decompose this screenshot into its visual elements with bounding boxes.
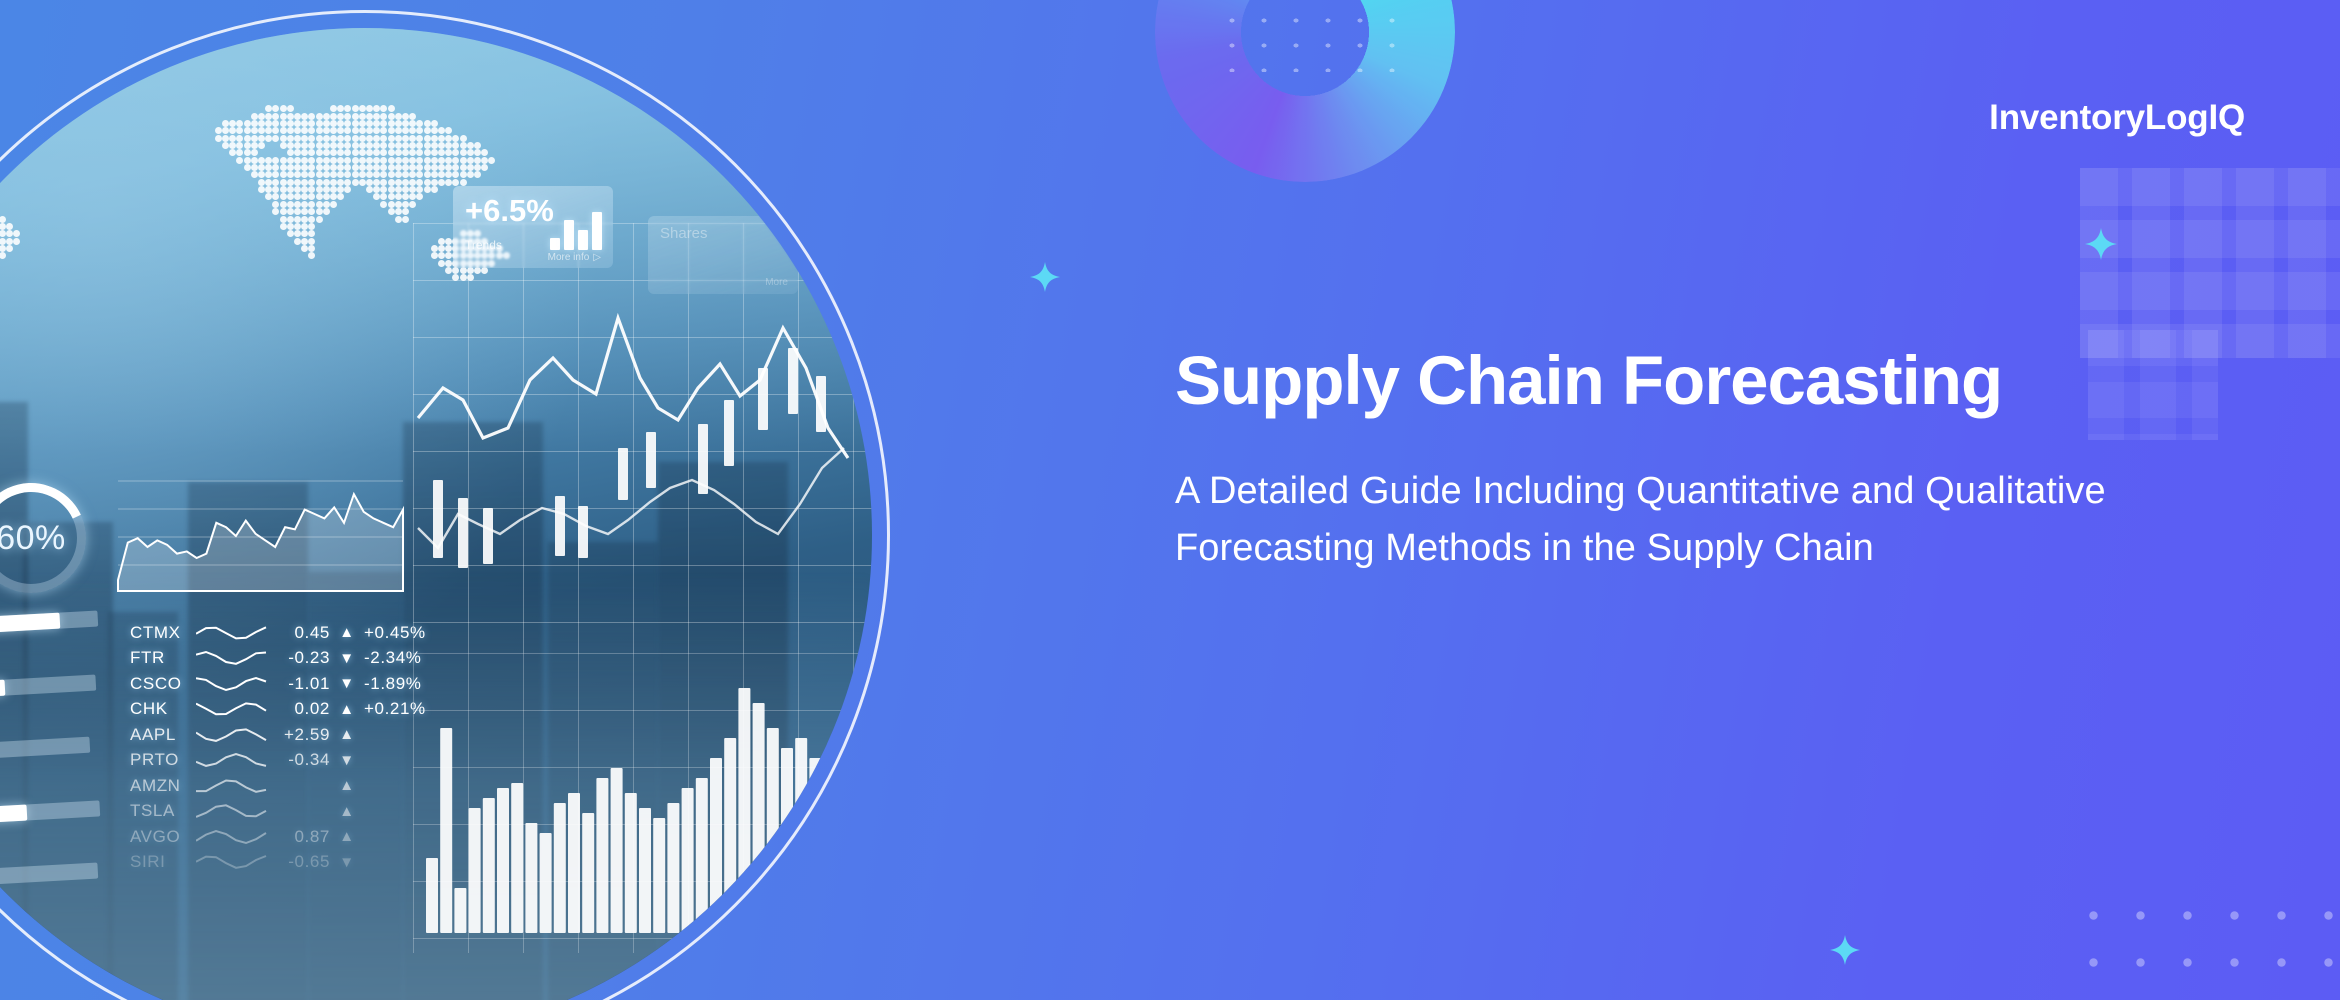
ticker-symbol: AMZN [130,776,196,796]
sparkle-icon [1830,935,1860,965]
more-label: More [765,277,788,288]
progress-bar [0,737,90,768]
photo-inner: 85% 60% CTMX0.45▲+0.45%FTR-0.23▼-2.34%CS… [0,28,872,1000]
shares-more-link[interactable]: More [765,277,788,288]
ticker-symbol: TSLA [130,801,196,821]
shares-kpi-card: Shares More [648,216,798,294]
ticker-row: FTR-0.23▼-2.34% [130,646,460,672]
ticker-list: CTMX0.45▲+0.45%FTR-0.23▼-2.34%CSCO-1.01▼… [130,620,460,875]
progress-bar [0,800,100,831]
ticker-change: -2.34% [364,648,450,668]
ticker-direction-up-icon: ▲ [330,803,364,820]
ticker-sparkline [196,802,268,820]
progress-bar [0,610,98,641]
ticker-direction-down-icon: ▼ [330,752,364,769]
ticker-symbol: CHK [130,699,196,719]
ticker-symbol: FTR [130,648,196,668]
ticker-value: -0.34 [268,750,330,770]
ticker-sparkline [196,624,268,642]
ticker-symbol: CSCO [130,674,196,694]
hero-photo: 85% 60% CTMX0.45▲+0.45%FTR-0.23▼-2.34%CS… [0,10,890,1000]
sparkle-icon [2085,228,2117,260]
ticker-direction-up-icon: ▲ [330,726,364,743]
ticker-sparkline [196,751,268,769]
ticker-symbol: CTMX [130,623,196,643]
ticker-direction-up-icon: ▲ [330,624,364,641]
ticker-sparkline [196,828,268,846]
ticker-value: 0.45 [268,623,330,643]
ticker-row: PRTO-0.34▼ [130,748,460,774]
play-circle-icon: ▷ [593,252,601,263]
ticker-symbol: AAPL [130,725,196,745]
ticker-sparkline [196,777,268,795]
ticker-value: +2.59 [268,725,330,745]
brand-logo[interactable]: InventoryLogIQ [1989,98,2245,138]
ticker-sparkline [196,700,268,718]
dot-grid-decoration [2060,880,2340,1000]
ticker-direction-down-icon: ▼ [330,675,364,692]
trends-more-link[interactable]: More info ▷ [548,252,601,263]
ticker-symbol: PRTO [130,750,196,770]
ticker-row: CHK0.02▲+0.21% [130,697,460,723]
ticker-direction-up-icon: ▲ [330,777,364,794]
ticker-direction-up-icon: ▲ [330,701,364,718]
ring-dot-grid-decoration [1212,0,1402,72]
ticker-row: CTMX0.45▲+0.45% [130,620,460,646]
ticker-change: +0.21% [364,699,450,719]
shares-label: Shares [660,225,786,242]
ticker-value: -0.65 [268,852,330,872]
hero-banner: 85% 60% CTMX0.45▲+0.45%FTR-0.23▼-2.34%CS… [0,0,2340,1000]
ticker-row: CSCO-1.01▼-1.89% [130,671,460,697]
ticker-symbol: SIRI [130,852,196,872]
ticker-value: 0.87 [268,827,330,847]
ticker-direction-up-icon: ▲ [330,828,364,845]
progress-bar-group [0,618,108,928]
index-area-chart [108,473,408,598]
ticker-change: +0.45% [364,623,450,643]
progress-bar [0,675,96,706]
ticker-symbol: AVGO [130,827,196,847]
ticker-row: TSLA▲ [130,799,460,825]
ticker-sparkline [196,649,268,667]
ticker-sparkline [196,726,268,744]
ticker-row: SIRI-0.65▼ [130,850,460,876]
ticker-sparkline [196,853,268,871]
trends-kpi-card: +6.5% Trends More info ▷ [453,186,613,268]
more-info-label: More info [548,252,590,263]
ticker-row: AMZN▲ [130,773,460,799]
ticker-direction-down-icon: ▼ [330,854,364,871]
ticker-row: AAPL+2.59▲ [130,722,460,748]
sparkle-icon [1030,262,1060,292]
ticker-change: -1.89% [364,674,450,694]
ticker-sparkline [196,675,268,693]
page-subtitle: A Detailed Guide Including Quantitative … [1175,463,2285,576]
ticker-direction-down-icon: ▼ [330,650,364,667]
ticker-row: AVGO0.87▲ [130,824,460,850]
page-title: Supply Chain Forecasting [1175,345,2295,417]
ticker-value: 0.02 [268,699,330,719]
ticker-value: -0.23 [268,648,330,668]
progress-bar [0,862,98,893]
trends-bar-icon [550,210,602,250]
hero-content: Supply Chain Forecasting A Detailed Guid… [1175,345,2295,577]
ticker-value: -1.01 [268,674,330,694]
